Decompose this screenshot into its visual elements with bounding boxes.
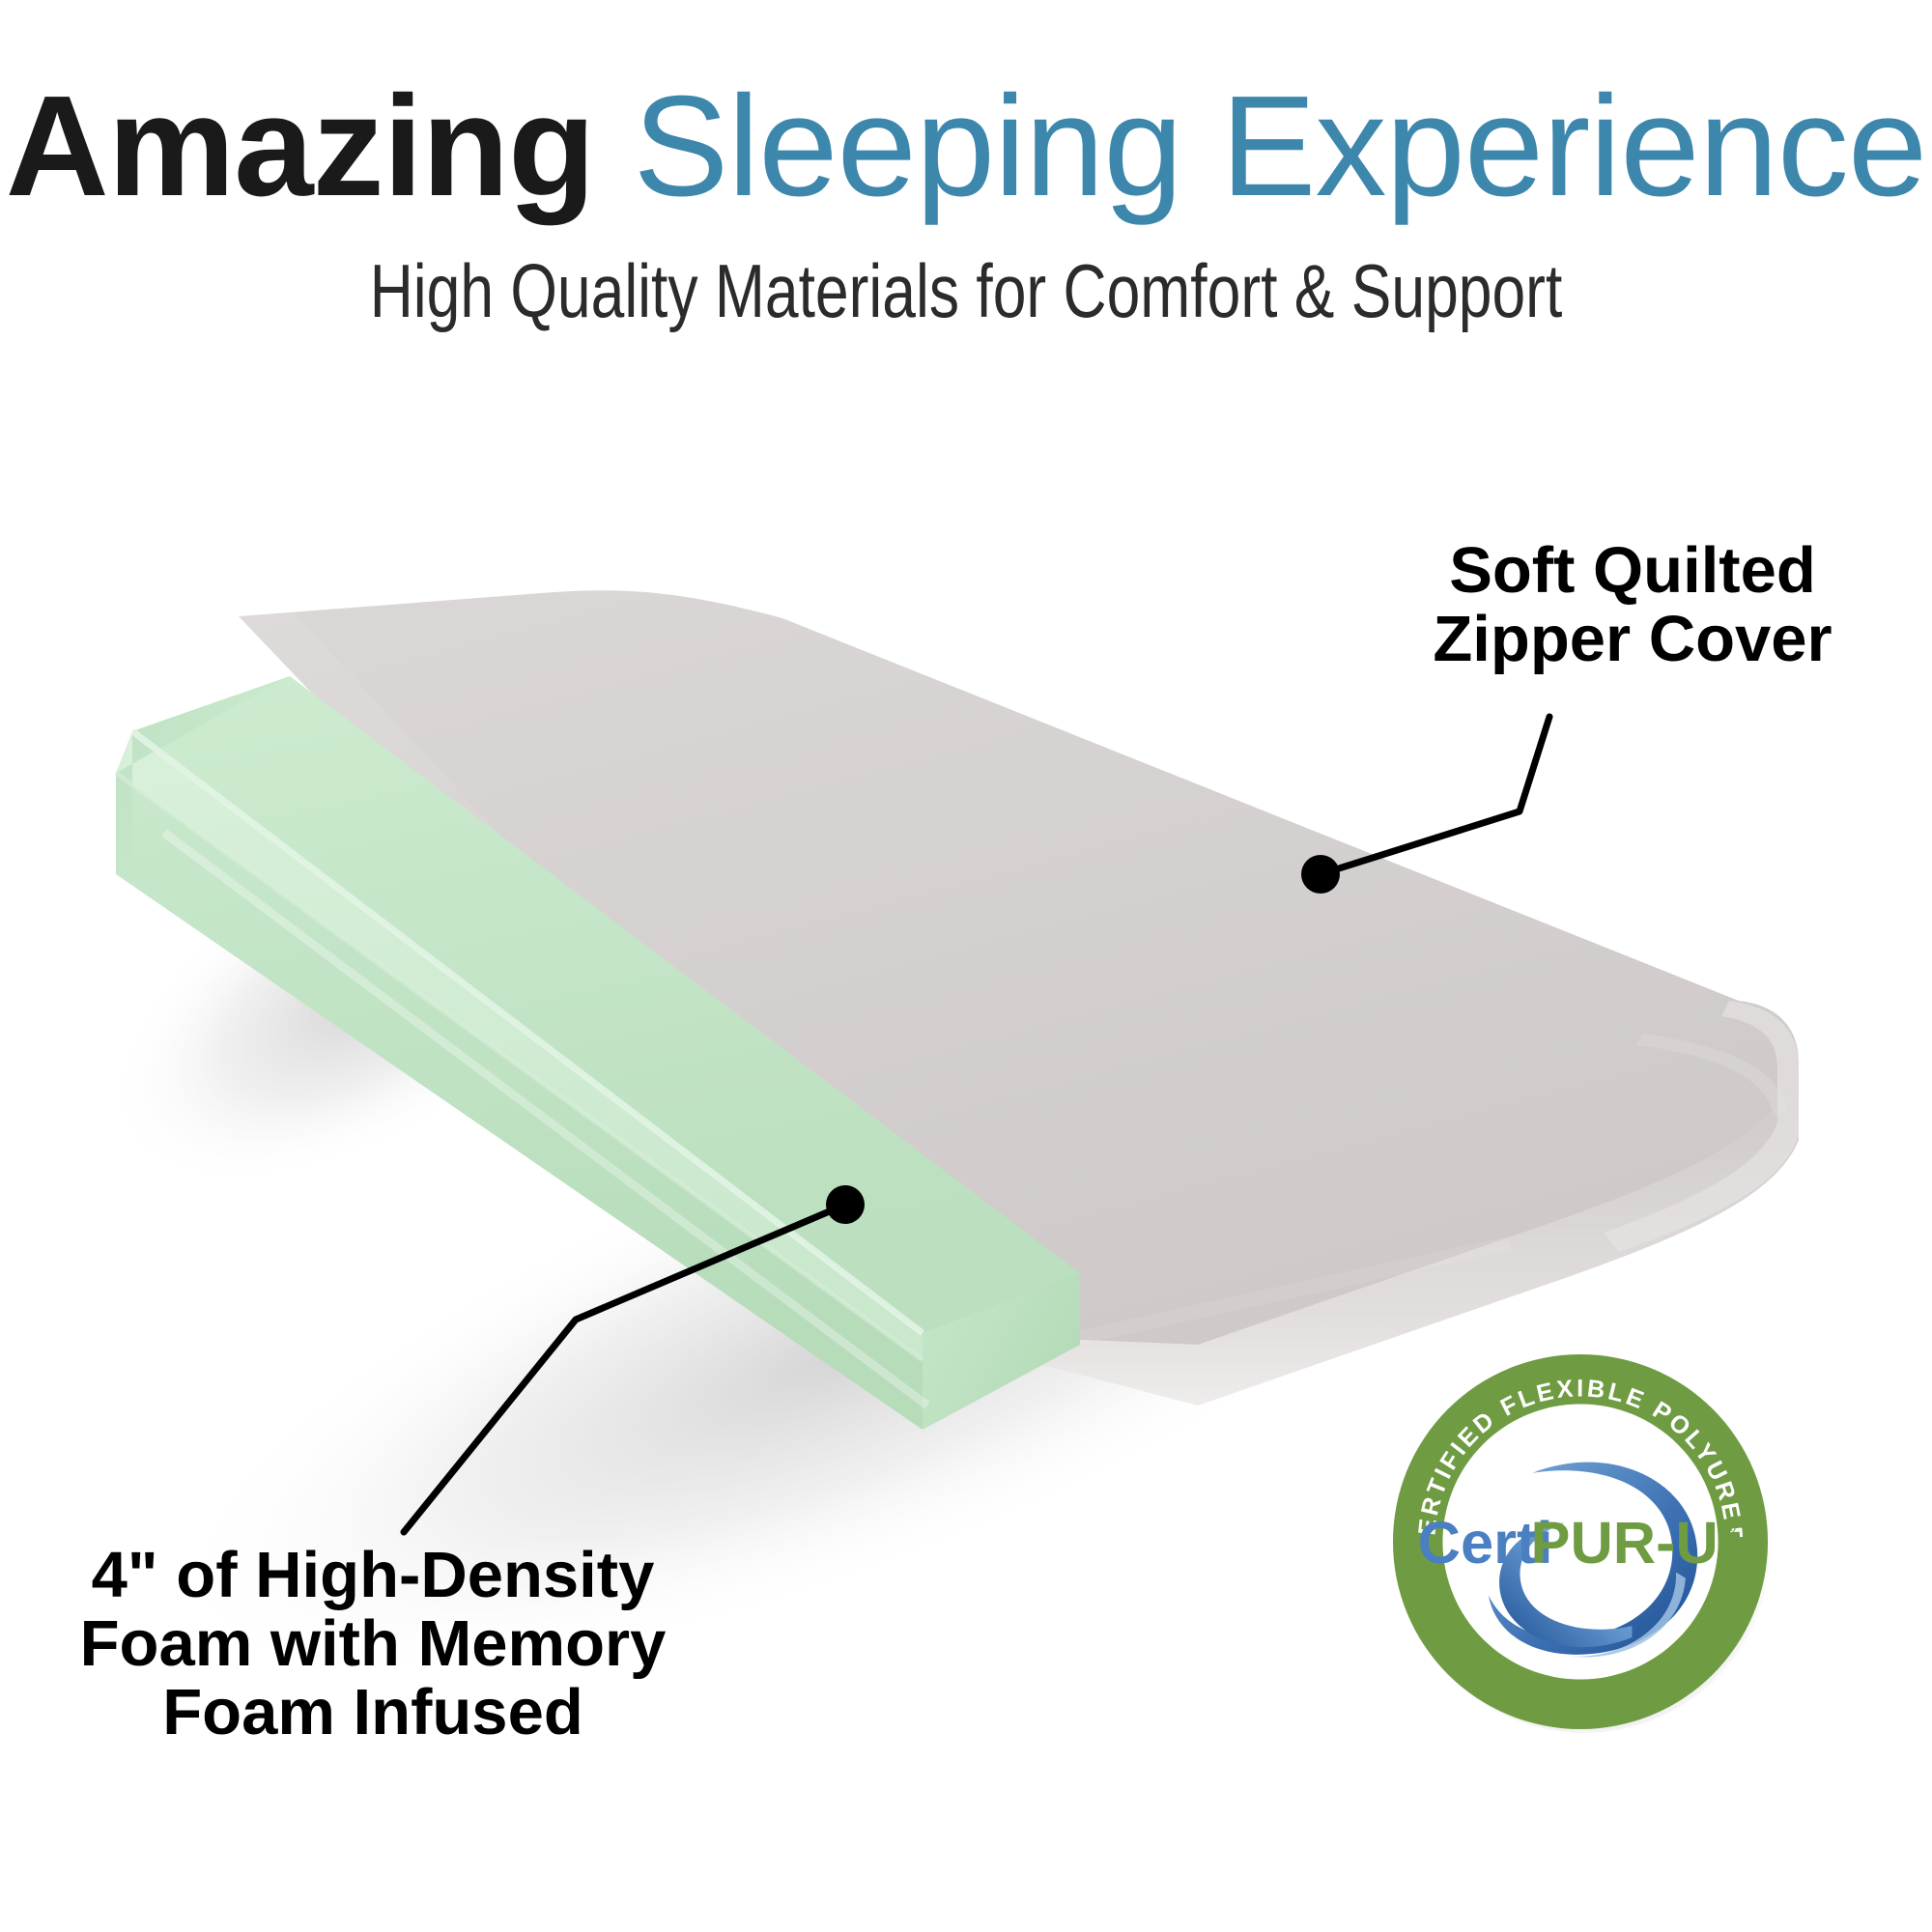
- cover-top-surface: [239, 590, 1799, 1345]
- cover-quilt-texture: [239, 609, 1787, 1358]
- certipur-us-badge: CONTAINS CERTIFIED FLEXIBLE POLYURETHANE…: [1389, 1350, 1772, 1733]
- foam-anchor-dot: [826, 1185, 865, 1224]
- foam-end-cap: [923, 1273, 1080, 1430]
- callout-leader-lines: [404, 717, 1549, 1532]
- foam-front-face: [116, 773, 923, 1430]
- foam-top-face: [132, 676, 1080, 1333]
- badge-wordmark: Certi PUR-US ®: [1418, 1510, 1758, 1577]
- callout-soft-quilted-zipper-cover: Soft Quilted Zipper Cover: [1362, 536, 1903, 673]
- callout-high-density-foam: 4" of High-Density Foam with Memory Foam…: [35, 1541, 711, 1747]
- quilted-zipper-cover: [239, 590, 1799, 1406]
- cover-corner-highlight: [1604, 1001, 1799, 1252]
- title-accent-words: Sleeping Experience: [595, 67, 1927, 226]
- page-title: Amazing Sleeping Experience: [0, 75, 1932, 218]
- callout-anchor-dots: [826, 855, 1340, 1224]
- title-emphasis-word: Amazing: [6, 67, 595, 226]
- cover-anchor-dot: [1301, 855, 1340, 894]
- page-subtitle: High Quality Materials for Comfort & Sup…: [193, 253, 1739, 328]
- foam-crease-bevel: [116, 731, 923, 1360]
- foam-left-tip: [116, 676, 290, 874]
- high-density-memory-foam: [116, 676, 1080, 1430]
- badge-registered-mark: ®: [1722, 1518, 1737, 1539]
- infographic-canvas: Amazing Sleeping Experience High Quality…: [0, 0, 1932, 1932]
